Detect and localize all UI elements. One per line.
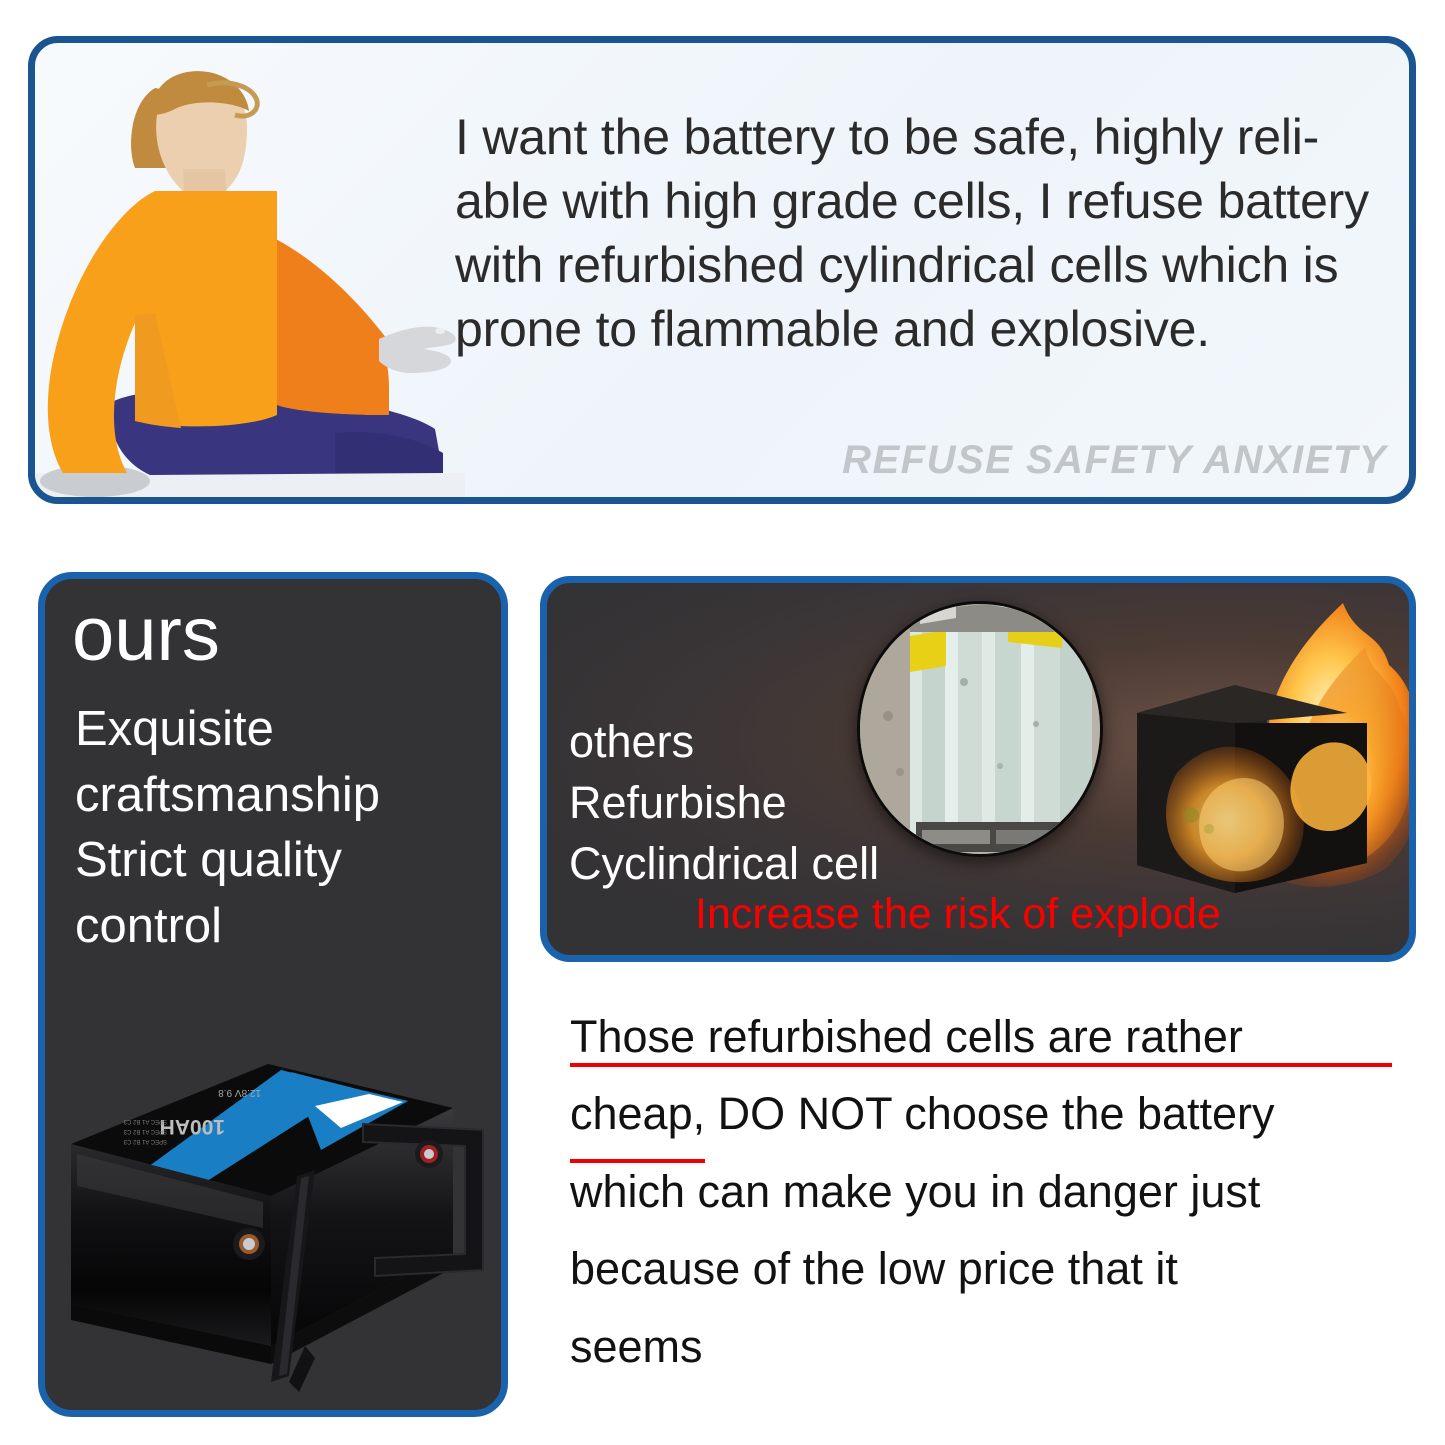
- others-panel: others Refurbishe Cyclindrical cell Incr…: [540, 576, 1416, 962]
- quote-line-3: with refurbished cylindrical cells which…: [455, 233, 1395, 297]
- warning-line-4: because of the low price that it: [570, 1230, 1400, 1307]
- quote-line-1: I want the battery to be safe, highly re…: [455, 105, 1395, 169]
- ours-panel: ours Exquisite craftsmanship Strict qual…: [38, 572, 508, 1417]
- ours-feature-4: control: [75, 894, 495, 960]
- quote-text: I want the battery to be safe, highly re…: [455, 105, 1395, 361]
- top-quote-panel: I want the battery to be safe, highly re…: [28, 36, 1416, 504]
- quote-line-2: able with high grade cells, I refuse bat…: [455, 169, 1395, 233]
- svg-text:12.8V 9.8: 12.8V 9.8: [218, 1087, 261, 1098]
- burning-battery-photo: [1117, 576, 1416, 913]
- ours-feature-list: Exquisite craftsmanship Strict quality c…: [75, 697, 495, 960]
- warning-line-2: cheap, DO NOT choose the battery: [570, 1075, 1400, 1152]
- lithium-battery-product-photo: 100AH 12.8V 9.8 SPEC A1 B2 C3 SPEC A1 B2…: [53, 1046, 508, 1406]
- ours-feature-3: Strict quality: [75, 828, 495, 894]
- refuse-safety-anxiety-watermark: REFUSE SAFETY ANXIETY: [842, 438, 1387, 483]
- warning-line-1: Those refurbished cells are rather: [570, 998, 1400, 1075]
- ours-title: ours: [72, 597, 220, 673]
- ours-feature-1: Exquisite: [75, 697, 495, 763]
- others-label: others: [569, 711, 879, 772]
- seated-person-pointing-illustration: [35, 43, 465, 498]
- warning-underlined-word: cheap,: [570, 1075, 705, 1152]
- warning-line-3: which can make you in danger just: [570, 1153, 1400, 1230]
- quote-line-4: prone to flammable and explosive.: [455, 297, 1395, 361]
- risk-warning-text: Increase the risk of explode: [695, 890, 1221, 939]
- warning-line-2-rest: DO NOT choose the battery: [705, 1088, 1274, 1139]
- svg-text:SPEC A1 B2 C3: SPEC A1 B2 C3: [123, 1128, 167, 1134]
- svg-text:100AH: 100AH: [160, 1115, 225, 1138]
- refurbished-cylindrical-cells-photo: [857, 601, 1103, 857]
- others-description: others Refurbishe Cyclindrical cell: [569, 711, 879, 895]
- svg-text:SPEC A1 B2 C3: SPEC A1 B2 C3: [123, 1138, 167, 1144]
- warning-paragraph: Those refurbished cells are rather cheap…: [570, 998, 1400, 1385]
- others-line-2: Refurbishe: [569, 772, 879, 833]
- others-line-3: Cyclindrical cell: [569, 833, 879, 894]
- ours-feature-2: craftsmanship: [75, 763, 495, 829]
- svg-text:SPEC A1 B2 C3: SPEC A1 B2 C3: [123, 1118, 167, 1124]
- warning-line-5: seems: [570, 1308, 1400, 1385]
